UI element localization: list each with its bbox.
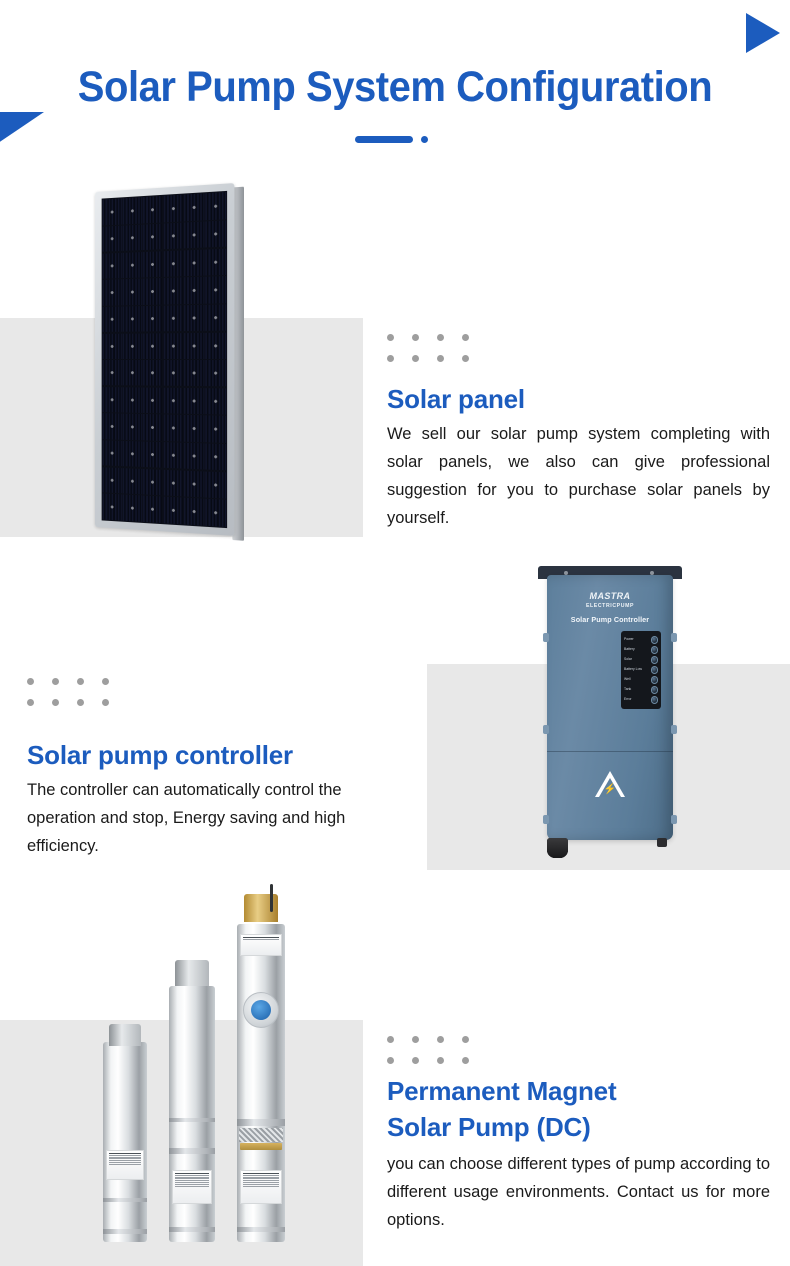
page-title: Solar Pump System Configuration [28,63,763,112]
solar-panel-image [95,183,234,536]
section-2-body: The controller can automatically control… [27,776,410,860]
pump-brass-ring [240,1143,282,1150]
pump-cable [270,884,273,912]
led-row: Battery [624,645,658,655]
led-label: Solar [624,658,632,662]
pump-band [237,1119,285,1126]
pump-brand-label [240,934,282,956]
panel-frame [95,183,234,536]
pump-small [103,1024,147,1242]
pump-band [237,1227,285,1232]
pump-spec-label [106,1150,145,1180]
led-label: Tank [624,688,631,692]
controller-panel-seam [547,751,673,752]
pump-cap [109,1024,141,1046]
led-indicator-icon [651,656,659,664]
section-3-heading: Permanent Magnet Solar Pump (DC) [387,1074,777,1145]
controller-brand-logo: MASTRA ELECTRICPUMP [547,592,673,611]
section-1-dot-grid [387,334,487,376]
controller-side-tab [671,633,677,642]
section-2-dot-grid [27,678,127,720]
led-indicator-icon [651,636,659,644]
title-underline-rule [355,136,413,143]
pump-tall [237,894,285,1242]
controller-side-tab [671,725,677,734]
page-header: Solar Pump System Configuration [0,0,790,178]
section-1-heading: Solar panel [387,382,777,418]
panel-cell-grid [102,191,227,528]
pump-band [169,1227,215,1232]
pump-band [169,1148,215,1154]
solar-pump-controller-image: MASTRA ELECTRICPUMP Solar Pump Controlle… [547,566,673,858]
section-1-body: We sell our solar pump system completing… [387,420,770,532]
led-row: Power [624,635,658,645]
pump-brass-cap [244,894,279,922]
section-3-heading-line-1: Permanent Magnet [387,1074,777,1110]
led-label: Battery [624,648,635,652]
cable-gland-small [657,838,667,847]
pump-logo-badge [243,992,279,1028]
led-label: Error [624,698,632,702]
led-indicator-icon [651,666,659,674]
pump-band [103,1198,147,1202]
led-label: Well [624,678,631,682]
triangle-left-icon [0,112,44,154]
controller-side-tab [543,725,549,734]
pump-cap [175,960,208,986]
controller-brand-name: MASTRA [590,591,631,601]
cable-gland [547,838,568,858]
submersible-pumps-image [95,890,335,1242]
led-row: Tank [624,685,658,695]
controller-enclosure: MASTRA ELECTRICPUMP Solar Pump Controlle… [547,575,673,840]
controller-side-tab [671,815,677,824]
controller-led-panel: Power Battery Solar Battery Low Well Tan… [621,631,661,709]
section-3-dot-grid [387,1036,487,1078]
triangle-right-icon [746,13,780,53]
section-3-heading-line-2: Solar Pump (DC) [387,1110,777,1146]
lightning-bolt-icon: ⚡ [604,785,616,795]
controller-model-text: Solar Pump Controller [547,615,673,624]
pump-intake-screen [239,1128,283,1142]
pump-medium [169,960,215,1242]
led-row: Error [624,695,658,705]
led-row: Solar [624,655,658,665]
controller-side-tab [543,633,549,642]
section-3-body: you can choose different types of pump a… [387,1150,770,1234]
led-label: Battery Low [624,668,642,672]
led-indicator-icon [651,696,659,704]
pump-band [103,1229,147,1234]
pump-spec-label [172,1170,212,1204]
led-indicator-icon [651,686,659,694]
led-row: Battery Low [624,665,658,675]
title-underline-dot [421,136,428,143]
pump-spec-label [240,1170,282,1204]
led-row: Well [624,675,658,685]
led-indicator-icon [651,646,659,654]
controller-side-tab [543,815,549,824]
led-indicator-icon [651,676,659,684]
pump-barrel [103,1042,147,1242]
pump-band [169,1118,215,1122]
section-2-heading: Solar pump controller [27,738,417,774]
led-label: Power [624,638,634,642]
controller-brand-sub: ELECTRICPUMP [547,602,673,611]
